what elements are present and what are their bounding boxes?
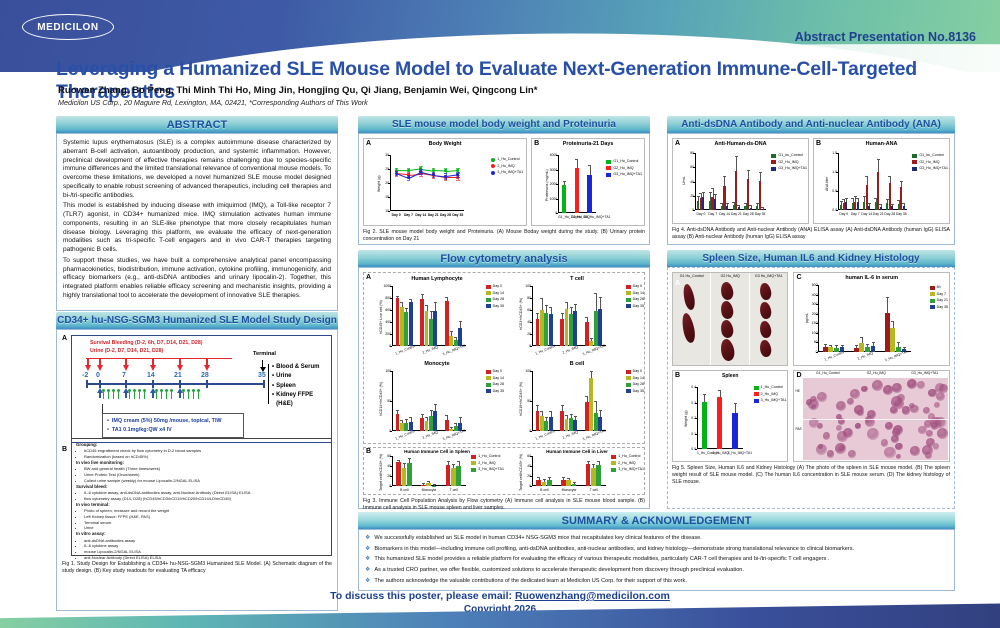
chart-title: Anti-Human-ds-DNA [673, 141, 808, 147]
bar [828, 347, 833, 352]
legend-label: G2_Hu_IMQ [613, 166, 633, 172]
bar [589, 341, 593, 346]
chart-legend: Day 0Day 14Day 28Day 35 [626, 369, 644, 395]
legend-label: G3_Hu_IMQ+TA1 [778, 166, 807, 172]
spleen-heading: Spleen Size, Human IL6 and Kidney Histol… [667, 250, 955, 267]
chart-legend: 1_Hu_Control2_Hu_IMQ3_Hu_IMQ+TA1 [611, 454, 644, 474]
readout-item: anti-Nuclear Antibody (Direct ELISA) ELI… [84, 555, 327, 561]
legend-item: 6h [930, 285, 948, 291]
bar [594, 311, 598, 346]
legend-swatch [486, 383, 491, 387]
legend-swatch [771, 167, 776, 171]
legend-item: Day 35 [626, 304, 644, 310]
legend-label: G2_Hu_IMQ [778, 160, 798, 166]
summary-item: ❖ The authors acknowledge the valuable c… [365, 578, 948, 586]
legend-item: G2_Hu_IMQ [912, 160, 948, 166]
figure-5-caption: Fig 5. Spleen Size, Human IL6 and Kidney… [672, 465, 950, 485]
legend-item: 1_Hu_Control [491, 157, 523, 163]
footer-band [0, 602, 1000, 628]
bar [859, 343, 864, 352]
bar [429, 416, 433, 431]
legend-label: Day 28 [493, 297, 504, 303]
author-list: Ruowen Zhang, Bo Peng, Thi Minh Thi Ho, … [58, 85, 938, 96]
x-tick-label: Monocyte [557, 488, 582, 492]
chart-title: B cell [510, 361, 644, 367]
bar [400, 307, 404, 346]
legend-item: G3_Hu_IMQ+TA1 [912, 166, 948, 172]
legend-label: Day 0 [633, 284, 642, 290]
bar [561, 480, 566, 487]
kidney-histology: D G1_Hu_Control G2_Hu_IMQ G3_Hu_IMQ+TA1 … [793, 370, 950, 462]
legend-label: Day 35 [633, 389, 644, 395]
bar [426, 483, 431, 487]
legend-item: Day 0 [626, 369, 644, 375]
x-tick-label: Day 28 [884, 212, 896, 216]
legend-swatch [611, 468, 616, 472]
histo-row-label: HE [795, 389, 799, 393]
bar [585, 402, 589, 431]
flow-panel-a: A Human Lymphocyte 02004006008001000hCD4… [363, 272, 645, 444]
plot-area: 050100hCD14+/hCD45+ (%)1_Hu_Control2_Hu_… [392, 371, 466, 431]
bodyweight-panel: SLE mouse model body weight and Proteinu… [358, 116, 650, 245]
legend-swatch [611, 461, 616, 465]
legend-item: Day 28 [626, 382, 644, 388]
plot-area: 0.00.10.20.30.4Weight (g)1_Hu_Control2_H… [697, 387, 743, 449]
figure-2-caption: Fig 2. SLE mouse model body weight and P… [363, 229, 645, 243]
bar [823, 347, 828, 352]
legend-label: Day 14 [633, 376, 644, 382]
summary-body: ❖ We successfully established an SLE mod… [358, 529, 955, 591]
flow-cytometry-panel: Flow cytometry analysis A Human Lymphocy… [358, 250, 650, 509]
plot-area: 020406080100hCD3+/hCD45+ (%)1_Hu_Control… [532, 286, 606, 346]
legend-item: G3_Hu_IMQ+TA1 [771, 166, 807, 172]
x-tick-label: Day 28 [742, 212, 754, 216]
bar [732, 413, 737, 449]
study-design-panel-b-letter: B [62, 446, 67, 453]
legend-marker [491, 164, 495, 168]
timeline-tick: 7 [122, 372, 126, 379]
bar [536, 319, 540, 346]
bar [420, 299, 424, 346]
spleen-panel-b-letter: B [675, 372, 680, 379]
bar [396, 298, 400, 346]
diamond-bullet-icon: ❖ [365, 535, 370, 543]
x-tick-label: Day 7 [707, 212, 719, 216]
study-design-panel: CD34+ hu-NSG-SGM3 Humanized SLE Model St… [56, 312, 338, 611]
legend-label: G1_hu_Control [778, 153, 802, 159]
legend-item: Day 28 [486, 297, 504, 303]
legend-label: G2_Hu_IMQ [919, 160, 939, 166]
summary-item-text: Biomarkers in this model—including immun… [374, 546, 854, 554]
bar [880, 207, 882, 210]
y-axis [695, 153, 696, 210]
legend-swatch [486, 304, 491, 308]
spleen-col-header: G3 Hu_IMQ+TA1 [750, 274, 787, 278]
ab-panel-a-letter: A [675, 140, 680, 147]
x-tick-label: Day 14 [861, 212, 873, 216]
legend-item: Day 21 [930, 298, 948, 304]
study-design-body: A Survival Bleeding (D-2, 6h, D7, D14, D… [56, 329, 338, 611]
legend-label: 1_Hu_Control [761, 385, 783, 391]
x-tick-label: Day 28 [439, 213, 451, 217]
legend-swatch [626, 298, 631, 302]
y-axis [392, 286, 393, 346]
legend-label: Day 14 [493, 376, 504, 382]
legend-label: Day 14 [493, 291, 504, 297]
timeline-tick: 28 [201, 372, 209, 379]
y-axis-label: hCD3+/hCD45+ (%) [519, 298, 523, 330]
spleen-col-header: G1 Hu_Control [673, 274, 710, 278]
legend-item: 2_Hu_IMQ [754, 392, 787, 398]
urine-label: Urine (D-2, D7, D14, D21, D28) [90, 348, 163, 354]
x-tick-label: B cell [392, 488, 417, 492]
legend-label: 3_Hu_IMQ+TA1 [497, 170, 523, 176]
figure-1-caption: Fig 1. Study Design for Establishing a C… [62, 561, 332, 575]
chart-legend: G1_hu_ControlG2_Hu_IMQG3_Hu_IMQ+TA1 [771, 153, 807, 173]
chart-legend: G1_hu_ControlG2_Hu_IMQG3_Hu_IMQ+TA1 [912, 153, 948, 173]
legend-swatch [486, 298, 491, 302]
chart-body-weight: A Body Weight 1015202530Weight (g)Day 0D… [363, 138, 527, 226]
y-axis [818, 285, 819, 352]
bar [585, 322, 589, 346]
plot-area: 01000200030004000Proteinuria (mg/mL)G1_H… [558, 155, 596, 213]
abstract-body: Systemic lupus erythematosus (SLE) is a … [56, 133, 338, 311]
bar [885, 313, 890, 352]
dosing-box: •IMQ cream (5%) 50mg /mouse, topical, TI… [102, 413, 244, 438]
y-axis-label: hCD45+ Live cell (%) [379, 300, 383, 334]
x-tick-label: Day 14 [719, 212, 731, 216]
bar [598, 309, 602, 346]
legend-swatch [771, 160, 776, 164]
diamond-bullet-icon: ❖ [365, 546, 370, 554]
bar [569, 418, 573, 431]
chart-title: Monocyte [370, 361, 504, 367]
legend-item: Day 14 [486, 376, 504, 382]
legend-label: Day 28 [633, 382, 644, 388]
legend-swatch [912, 154, 917, 158]
plot-area: 0.00.51.01.5ANA titerDay 0Day 7Day 14Day… [838, 153, 907, 210]
x-tick-label: Day 21 [873, 212, 885, 216]
chart-legend: G1_Hu_ControlG2_Hu_IMQG3_Hu_IMQ+TA1 [606, 159, 642, 179]
y-axis [390, 155, 391, 211]
medicilon-logo: MEDICILON [22, 14, 114, 40]
chart-legend: Day 0Day 14Day 28Day 35 [486, 284, 504, 310]
legend-label: 3_Hu_IMQ+TA1 [478, 467, 504, 473]
bar [589, 378, 593, 431]
terminal-item: Urine [276, 372, 291, 381]
abstract-paragraph: Systemic lupus erythematosus (SLE) is a … [63, 139, 331, 200]
legend-swatch [754, 386, 759, 390]
legend-item: G1_Hu_Control [606, 159, 642, 165]
diamond-bullet-icon: ❖ [365, 578, 370, 586]
chart-human-il6: C human IL-6 in serum 050100150200300400… [793, 272, 950, 366]
legend-swatch [611, 455, 616, 459]
abstract-paragraph: To support these studies, we have built … [63, 257, 331, 301]
bar [429, 319, 433, 346]
antibody-panel: Anti-dsDNA Antibody and Anti-nuclear Ant… [667, 116, 955, 245]
x-tick-label: Day 7 [402, 213, 414, 217]
bar [404, 312, 408, 346]
legend-item: Day 0 [626, 284, 644, 290]
chart-legend: 1_Hu_Control2_Hu_IMQ3_Hu_IMQ+TA1 [754, 385, 787, 405]
bar [396, 462, 401, 486]
summary-item-text: This humanized SLE model provides a reli… [374, 556, 829, 564]
legend-label: Day 14 [633, 291, 644, 297]
spleen-photo: A G1 Hu_Control G2 Hu_IMQ [672, 272, 788, 366]
bar [575, 168, 579, 213]
abstract-panel: ABSTRACT Systemic lupus erythematosus (S… [56, 116, 338, 311]
legend-swatch [606, 166, 611, 170]
legend-item: G2_Hu_IMQ [771, 160, 807, 166]
spleen-group-2: G2 Hu_IMQ [710, 273, 748, 365]
legend-label: Day 35 [493, 304, 504, 310]
x-tick-label: Monocyte [417, 488, 442, 492]
bar [407, 463, 412, 486]
legend-item: 2_Hu_IMQ [491, 164, 523, 170]
flow-panel-b: B Human Immune Cell in Spleen 0204060Tar… [363, 447, 645, 495]
legend-swatch [486, 370, 491, 374]
y-axis [532, 456, 533, 486]
spleen-panel-a-letter: A [675, 280, 680, 287]
study-timeline-diagram: Survival Bleeding (D-2, 6h, D7, D14, D21… [71, 335, 332, 443]
study-design-panel-a-letter: A [62, 335, 67, 342]
bar [857, 202, 859, 210]
histo-col-header: G1_Hu_Control [803, 371, 852, 375]
legend-swatch [930, 292, 935, 296]
chart-human-ana: B Human-ANA 0.00.51.01.5ANA titerDay 0Da… [813, 138, 950, 224]
legend-swatch [471, 455, 476, 459]
bar [587, 175, 591, 213]
bar [445, 420, 449, 431]
bar [565, 419, 569, 431]
chart-title: Human Lymphocyte [370, 276, 504, 282]
legend-label: 2_Hu_IMQ [618, 461, 635, 467]
legend-label: Day 21 [937, 298, 948, 304]
chart-legend: 1_Hu_Control2_Hu_IMQ3_Hu_IMQ+TA1 [471, 454, 504, 474]
timeline-tick: 0 [96, 372, 100, 379]
legend-swatch [754, 392, 759, 396]
legend-label: 1_Hu_Control [497, 157, 519, 163]
legend-swatch [771, 154, 776, 158]
chart-title: human IL-6 in serum [794, 275, 949, 281]
summary-item: ❖ Biomarkers in this model—including imm… [365, 546, 948, 554]
legend-label: Day 28 [493, 382, 504, 388]
legend-label: 6h [937, 285, 941, 291]
summary-heading: SUMMARY & ACKNOWLEDGEMENT [358, 512, 955, 529]
plot-area: 0204060Target cell/hCD45+ (%)B cellMonoc… [532, 456, 606, 486]
legend-swatch [626, 389, 631, 393]
footer-gradient [0, 602, 1000, 628]
bar [549, 314, 553, 346]
legend-item: Day 28 [486, 382, 504, 388]
y-axis-label: pg/mL [805, 313, 809, 323]
bar [425, 311, 429, 346]
legend-swatch [626, 304, 631, 308]
timeline-tick: 35 [258, 372, 266, 379]
bar [903, 206, 905, 210]
y-axis-label: U/mL [682, 177, 686, 186]
summary-item-text: As a trusted CRO partner, we offer flexi… [374, 567, 744, 575]
bar [400, 423, 404, 431]
abstract-heading: ABSTRACT [56, 116, 338, 133]
plot-area: 0204060Target cell/hCD45+ (%)B cellMonoc… [392, 456, 466, 486]
legend-item: Day 14 [486, 291, 504, 297]
x-tick-label: Day 21 [731, 212, 743, 216]
y-axis-label: Weight (g) [377, 175, 381, 192]
legend-label: 3_Hu_IMQ+TA1 [618, 467, 644, 473]
bar [449, 429, 453, 431]
y-axis-label: ANA titer [825, 176, 829, 190]
bar [726, 206, 728, 210]
y-axis [392, 371, 393, 431]
legend-item: G1_hu_Control [771, 153, 807, 159]
bar [458, 328, 462, 346]
legend-item: Day 7 [930, 292, 948, 298]
legend-label: G3_Hu_IMQ+TA1 [919, 166, 948, 172]
summary-item: ❖ As a trusted CRO partner, we offer fle… [365, 567, 948, 575]
spleen-group-3: G3 Hu_IMQ+TA1 [749, 273, 787, 365]
bar [591, 468, 596, 486]
abstract-text: Systemic lupus erythematosus (SLE) is a … [63, 139, 331, 301]
spleen-panel-c-letter: C [796, 274, 801, 281]
survival-bleeding-label: Survival Bleeding (D-2, 6h, D7, D14, D21… [90, 340, 202, 346]
bar [544, 421, 548, 431]
legend-item: 3_Hu_IMQ+TA1 [491, 170, 523, 176]
legend-label: Day 7 [937, 292, 946, 298]
legend-swatch [626, 383, 631, 387]
bar [845, 202, 847, 210]
bar [891, 206, 893, 210]
legend-label: 2_Hu_IMQ [761, 392, 778, 398]
bar [540, 310, 544, 346]
legend-label: Day 0 [493, 284, 502, 290]
legend-label: Day 35 [937, 305, 948, 311]
bar [594, 413, 598, 431]
bar [572, 484, 577, 487]
x-tick-label: Day 0 [695, 212, 707, 216]
legend-label: G1_Hu_Control [613, 159, 638, 165]
legend-item: Day 35 [930, 305, 948, 311]
legend-label: 1_Hu_Control [478, 454, 500, 460]
x-tick-label: Day 0 [390, 213, 402, 217]
legend-label: Day 35 [633, 304, 644, 310]
chart-legend: 1_Hu_Control2_Hu_IMQ3_Hu_IMQ+TA1 [491, 157, 523, 177]
summary-item: ❖ This humanized SLE model provides a re… [365, 556, 948, 564]
histo-col-header: G2_Hu_IMQ [852, 371, 901, 375]
affiliation: Medicilon US Corp., 20 Maguire Rd, Lexin… [58, 98, 938, 107]
bar [449, 336, 453, 346]
bar [433, 311, 437, 346]
legend-item: Day 35 [486, 304, 504, 310]
x-tick-label: T cell [581, 488, 606, 492]
chart-title: Human-ANA [814, 141, 949, 147]
legend-swatch [486, 389, 491, 393]
y-axis-label: Proteinuria (mg/mL) [545, 169, 549, 201]
bar [717, 397, 722, 449]
legend-item: 1_Hu_Control [471, 454, 504, 460]
chart-legend: Day 0Day 14Day 28Day 35 [486, 369, 504, 395]
summary-item-text: The authors acknowledge the valuable con… [374, 578, 687, 586]
legend-swatch [606, 160, 611, 164]
y-axis-label: hCD19+/hCD45+ (%) [519, 382, 523, 416]
legend-swatch [626, 376, 631, 380]
spleen-panel-d-letter: D [796, 372, 801, 379]
flow-heading: Flow cytometry analysis [358, 250, 650, 267]
plot-area: 020406080U/mLDay 0Day 7Day 14Day 21Day 2… [695, 153, 766, 210]
x-tick-label: Day 21 [427, 213, 439, 217]
bar [547, 480, 552, 487]
chart-title: T cell [510, 276, 644, 282]
flow-body: A Human Lymphocyte 02004006008001000hCD4… [358, 267, 650, 509]
legend-item: G3_Hu_IMQ+TA1 [606, 172, 642, 178]
bar [566, 480, 571, 486]
diamond-bullet-icon: ❖ [365, 567, 370, 575]
timeline-tick: -2 [82, 372, 88, 379]
legend-label: 3_Hu_IMQ+TA1 [761, 398, 787, 404]
legend-item: Day 14 [626, 291, 644, 297]
chart-title: Spleen [673, 373, 787, 379]
chart-legend: 6hDay 7Day 21Day 35 [930, 285, 948, 311]
legend-swatch [754, 399, 759, 403]
contact-email-link[interactable]: Ruowenzhang@medicilon.com [515, 590, 670, 602]
bar [432, 486, 437, 487]
bar [761, 209, 763, 210]
legend-swatch [486, 376, 491, 380]
bar [396, 414, 400, 431]
legend-swatch [912, 167, 917, 171]
bar [540, 416, 544, 431]
bar [750, 208, 752, 210]
legend-swatch [486, 291, 491, 295]
terminal-readouts: •Blood & Serum •Urine •Spleen •Kidney FF… [272, 363, 331, 409]
legend-label: Day 0 [633, 369, 642, 375]
bar [586, 464, 591, 486]
legend-label: Day 35 [493, 389, 504, 395]
bodyweight-body: A Body Weight 1015202530Weight (g)Day 0D… [358, 133, 650, 245]
logo-text: MEDICILON [37, 22, 99, 33]
bar [565, 309, 569, 346]
legend-swatch [930, 286, 935, 290]
bar [536, 411, 540, 431]
study-design-heading: CD34+ hu-NSG-SGM3 Humanized SLE Model St… [56, 312, 338, 329]
legend-marker [491, 171, 495, 175]
abstract-paragraph: This model is established by inducing di… [63, 202, 331, 255]
y-axis [532, 371, 533, 431]
chart-title: Proteinuria-21 Days [532, 141, 644, 147]
plot-area: 050100hCD19+/hCD45+ (%)1_Hu_Control2_Hu_… [532, 371, 606, 431]
bar [854, 348, 859, 352]
x-tick-label: B cell [532, 488, 557, 492]
bar [562, 185, 566, 213]
x-tick-label: Day 35 [896, 212, 908, 216]
legend-item: Day 0 [486, 369, 504, 375]
legend-marker [491, 158, 495, 162]
bar [404, 423, 408, 431]
contact-prefix: To discuss this poster, please email: [330, 590, 515, 602]
legend-swatch [626, 291, 631, 295]
legend-item: Day 28 [626, 297, 644, 303]
timeline-tick: 21 [174, 372, 182, 379]
summary-item-text: We successfully established an SLE model… [374, 535, 701, 543]
bar [759, 181, 761, 210]
legend-item: 3_Hu_IMQ+TA1 [754, 398, 787, 404]
histo-col-header: G3_Hu_IMQ+TA1 [901, 371, 950, 375]
dose-line: TA1 0.1mg/kg:QW x4 IV [112, 426, 172, 435]
legend-item: G1_hu_Control [912, 153, 948, 159]
bw-panel-a-letter: A [366, 140, 371, 147]
bar [536, 480, 541, 486]
legend-swatch [626, 370, 631, 374]
